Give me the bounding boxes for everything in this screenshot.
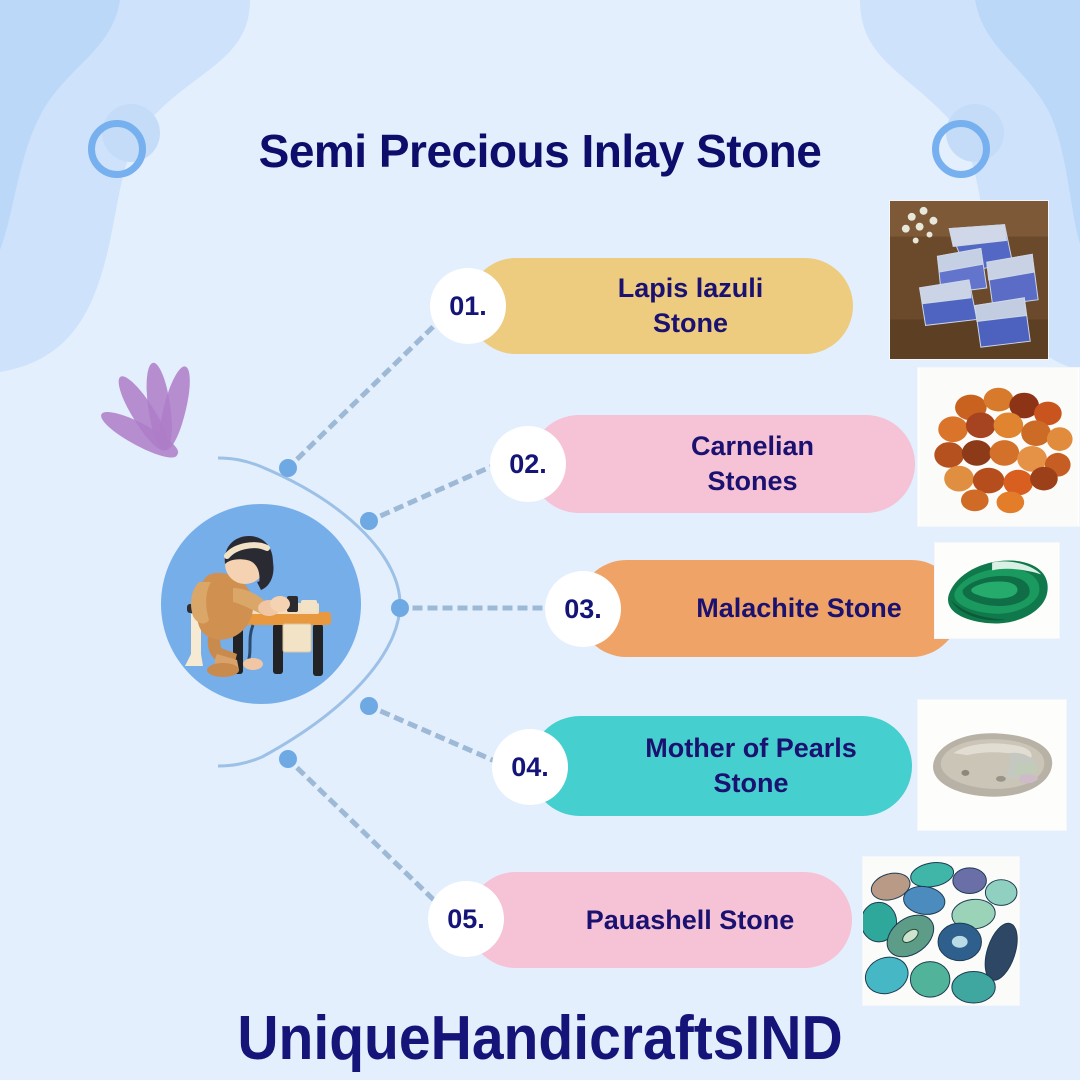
item-label: Mother of Pearls Stone [645,731,857,800]
pauashell-stone-photo [862,856,1020,1006]
malachite-stone-photo [934,542,1060,639]
item-pill[interactable]: Malachite Stone [578,560,960,657]
lapis-lazuli-stone-photo [889,200,1049,360]
item-label: Lapis lazuli Stone [618,271,764,340]
item-label: Malachite Stone [696,591,902,626]
mother-of-pearls-stone-photo [917,699,1067,831]
item-number: 04. [511,752,549,783]
item-pill[interactable]: Lapis lazuli Stone [468,258,853,354]
item-number: 01. [449,291,487,322]
item-number-badge[interactable]: 05. [428,881,504,957]
item-pill[interactable]: Carnelian Stones [530,415,915,513]
item-number-badge[interactable]: 02. [490,426,566,502]
carnelian-stones-photo [917,367,1080,527]
item-pill[interactable]: Pauashell Stone [468,872,852,968]
item-number: 03. [564,594,602,625]
item-pill[interactable]: Mother of Pearls Stone [530,716,912,816]
item-label: Pauashell Stone [586,903,795,938]
artisan-illustration-circle [161,504,361,704]
item-number-badge[interactable]: 03. [545,571,621,647]
brand-footer: UniqueHandicraftsIND [43,1003,1037,1074]
item-label: Carnelian Stones [691,429,814,498]
artisan-at-workbench-icon [161,504,361,704]
item-number-badge[interactable]: 04. [492,729,568,805]
item-number-badge[interactable]: 01. [430,268,506,344]
item-number: 05. [447,904,485,935]
infographic-canvas: Semi Precious Inlay Stone [0,0,1080,1080]
item-number: 02. [509,449,547,480]
